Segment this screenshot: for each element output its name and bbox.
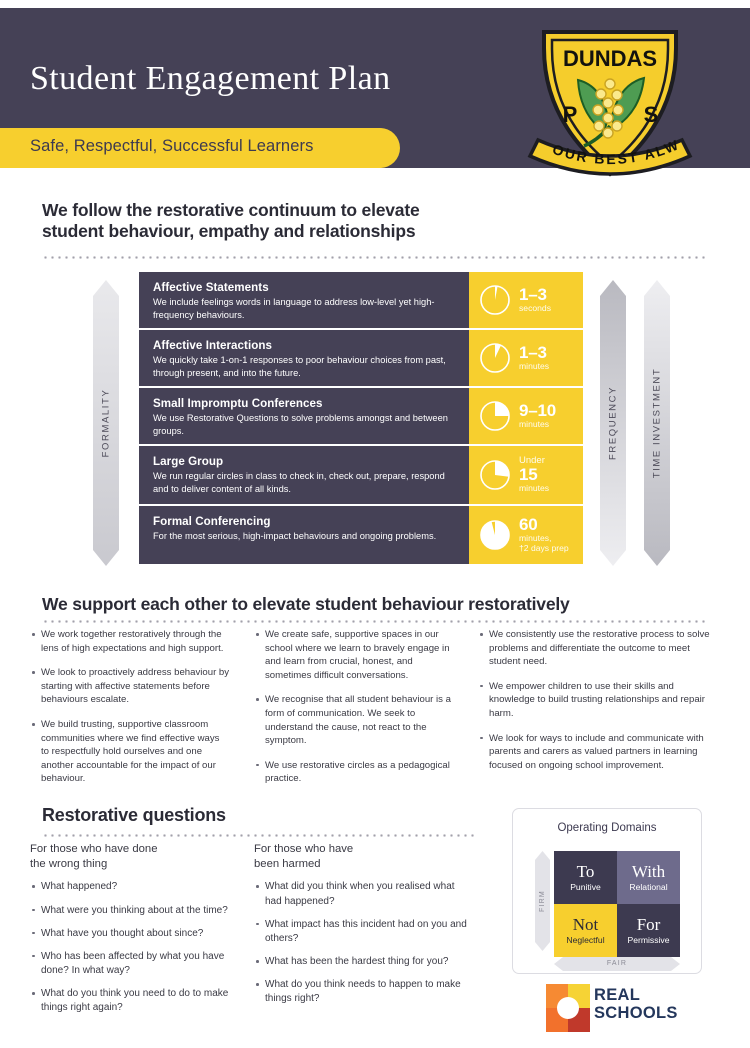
- time-unit: minutes: [519, 420, 556, 430]
- clock-pie-icon: [479, 459, 511, 491]
- continuum-row: Large GroupWe run regular circles in cla…: [139, 446, 583, 504]
- time-value: 1–3seconds: [519, 286, 551, 314]
- restorative-questions-heading: Restorative questions: [42, 805, 226, 827]
- support-column: We create safe, supportive spaces in our…: [254, 628, 454, 797]
- real-schools-mark-icon: [546, 984, 590, 1032]
- firm-axis-label: FIRM: [539, 897, 546, 912]
- axis-frequency-label: FREQUENCY: [608, 386, 619, 460]
- quadrant-to-title: To: [577, 863, 595, 881]
- continuum-row-time: 9–10minutes: [469, 388, 583, 444]
- quadrant-not: Not Neglectful: [554, 904, 617, 957]
- time-prefix: Under: [519, 456, 549, 466]
- support-column: We consistently use the restorative proc…: [478, 628, 720, 783]
- time-unit: †2 days prep: [519, 544, 569, 554]
- restorative-question-item: What do you think you need to do to make…: [30, 987, 235, 1015]
- logo-line-1: REAL: [594, 987, 678, 1005]
- quadrant-not-subtitle: Neglectful: [566, 935, 604, 945]
- tagline-text: Safe, Respectful, Successful Learners: [30, 137, 313, 156]
- logo-line-2: SCHOOLS: [594, 1005, 678, 1023]
- clock-pie-icon: [479, 284, 511, 316]
- continuum-row-title: Large Group: [153, 455, 457, 468]
- support-bullet: We recognise that all student behaviour …: [254, 693, 454, 747]
- axis-formality-label: FORMALITY: [101, 389, 112, 458]
- restorative-question-item: What have you thought about since?: [30, 927, 235, 941]
- axis-time-investment-label: TIME INVESTMENT: [652, 368, 663, 479]
- continuum-row: Affective StatementsWe include feelings …: [139, 272, 583, 328]
- support-bullet: We build trusting, supportive classroom …: [30, 718, 230, 786]
- continuum-row-description: We run regular circles in class to check…: [153, 470, 457, 495]
- school-badge: DUNDAS P S OUR BEST ALWAYS: [522, 22, 698, 190]
- restorative-question-group: For those who havebeen harmedWhat did yo…: [254, 842, 469, 1016]
- restorative-question-group: For those who have donethe wrong thingWh…: [30, 842, 235, 1025]
- time-unit: minutes: [519, 362, 549, 372]
- time-amount: 15: [519, 466, 549, 484]
- badge-initial-left: P: [563, 102, 578, 127]
- fair-axis-label: FAIR: [554, 960, 680, 967]
- continuum-row: Affective InteractionsWe quickly take 1-…: [139, 330, 583, 386]
- support-bullet: We look to proactively address behaviour…: [30, 666, 230, 707]
- time-amount: 1–3: [519, 286, 551, 304]
- continuum-divider: [42, 256, 706, 259]
- quadrant-with: With Relational: [617, 851, 680, 904]
- continuum-row-description: We use Restorative Questions to solve pr…: [153, 412, 457, 437]
- support-heading: We support each other to elevate student…: [42, 594, 722, 615]
- support-divider: [42, 620, 706, 623]
- badge-school-name: DUNDAS: [563, 46, 657, 71]
- support-bullet: We work together restoratively through t…: [30, 628, 230, 655]
- continuum-heading-line1: We follow the restorative continuum to e…: [42, 200, 602, 221]
- time-value: 1–3minutes: [519, 344, 549, 372]
- time-value: 9–10minutes: [519, 402, 556, 430]
- restorative-question-item: What did you think when you realised wha…: [254, 880, 469, 908]
- support-bullet: We look for ways to include and communic…: [478, 732, 720, 773]
- support-bullet: We create safe, supportive spaces in our…: [254, 628, 454, 682]
- restorative-question-subheading: For those who have donethe wrong thing: [30, 842, 235, 871]
- quadrant-for-subtitle: Permissive: [627, 935, 669, 945]
- support-bullet: We consistently use the restorative proc…: [478, 628, 720, 669]
- continuum-row-title: Small Impromptu Conferences: [153, 397, 457, 410]
- continuum-row-title: Affective Interactions: [153, 339, 457, 352]
- time-amount: 1–3: [519, 344, 549, 362]
- support-bullet: We empower children to use their skills …: [478, 680, 720, 721]
- time-value: Under15minutes: [519, 456, 549, 494]
- continuum-heading-line2: student behaviour, empathy and relations…: [42, 221, 602, 242]
- continuum-row-text: Affective InteractionsWe quickly take 1-…: [139, 330, 469, 386]
- continuum-row-list: Affective StatementsWe include feelings …: [139, 272, 583, 566]
- restorative-question-item: What do you think needs to happen to mak…: [254, 978, 469, 1006]
- time-amount: 60: [519, 516, 569, 534]
- restorative-question-item: What were you thinking about at the time…: [30, 904, 235, 918]
- continuum-row-time: 1–3minutes: [469, 330, 583, 386]
- clock-pie-icon: [479, 342, 511, 374]
- continuum-row: Small Impromptu ConferencesWe use Restor…: [139, 388, 583, 444]
- continuum-row-description: We quickly take 1-on-1 responses to poor…: [153, 354, 457, 379]
- axis-formality: FORMALITY: [93, 280, 119, 566]
- axis-frequency: FREQUENCY: [600, 280, 626, 566]
- clock-pie-icon: [479, 519, 511, 551]
- continuum-row-title: Formal Conferencing: [153, 515, 457, 528]
- continuum-heading: We follow the restorative continuum to e…: [42, 200, 602, 243]
- continuum-row-description: For the most serious, high-impact behavi…: [153, 530, 457, 543]
- continuum-row-text: Affective StatementsWe include feelings …: [139, 272, 469, 328]
- time-unit: minutes: [519, 484, 549, 494]
- continuum-row-description: We include feelings words in language to…: [153, 296, 457, 321]
- continuum-row-time: Under15minutes: [469, 446, 583, 504]
- quadrant-with-subtitle: Relational: [629, 882, 667, 892]
- quadrant-to: To Punitive: [554, 851, 617, 904]
- restorative-question-subheading: For those who havebeen harmed: [254, 842, 469, 871]
- time-unit: seconds: [519, 304, 551, 314]
- continuum-row-time: 60minutes,†2 days prep: [469, 506, 583, 564]
- continuum-row-text: Formal ConferencingFor the most serious,…: [139, 506, 469, 564]
- quadrant-for: For Permissive: [617, 904, 680, 957]
- real-schools-wordmark: REAL SCHOOLS: [594, 987, 678, 1023]
- clock-pie-icon: [479, 400, 511, 432]
- restorative-question-item: What impact has this incident had on you…: [254, 918, 469, 946]
- support-column: We work together restoratively through t…: [30, 628, 230, 797]
- continuum-row-time: 1–3seconds: [469, 272, 583, 328]
- page-title: Student Engagement Plan: [30, 60, 390, 98]
- restorative-question-item: What happened?: [30, 880, 235, 894]
- quadrant-not-title: Not: [573, 916, 599, 934]
- restorative-questions-divider: [42, 834, 477, 837]
- badge-initial-right: S: [644, 102, 659, 127]
- real-schools-logo: REAL SCHOOLS: [546, 984, 696, 1036]
- restorative-question-item: What has been the hardest thing for you?: [254, 955, 469, 969]
- time-value: 60minutes,†2 days prep: [519, 516, 569, 554]
- axis-time-investment: TIME INVESTMENT: [644, 280, 670, 566]
- operating-domains-card: Operating Domains FIRM To Punitive With …: [512, 808, 702, 974]
- quadrant-for-title: For: [637, 916, 661, 934]
- quadrant-with-title: With: [632, 863, 665, 881]
- continuum-row-text: Small Impromptu ConferencesWe use Restor…: [139, 388, 469, 444]
- time-amount: 9–10: [519, 402, 556, 420]
- continuum-row-title: Affective Statements: [153, 281, 457, 294]
- restorative-continuum: FORMALITY FREQUENCY TIME INVESTMENT Affe…: [0, 272, 750, 572]
- continuum-row-text: Large GroupWe run regular circles in cla…: [139, 446, 469, 504]
- continuum-row: Formal ConferencingFor the most serious,…: [139, 506, 583, 564]
- support-bullet: We use restorative circles as a pedagogi…: [254, 759, 454, 786]
- quadrant-to-subtitle: Punitive: [570, 882, 601, 892]
- restorative-question-item: Who has been affected by what you have d…: [30, 950, 235, 978]
- operating-domains-title: Operating Domains: [513, 822, 701, 834]
